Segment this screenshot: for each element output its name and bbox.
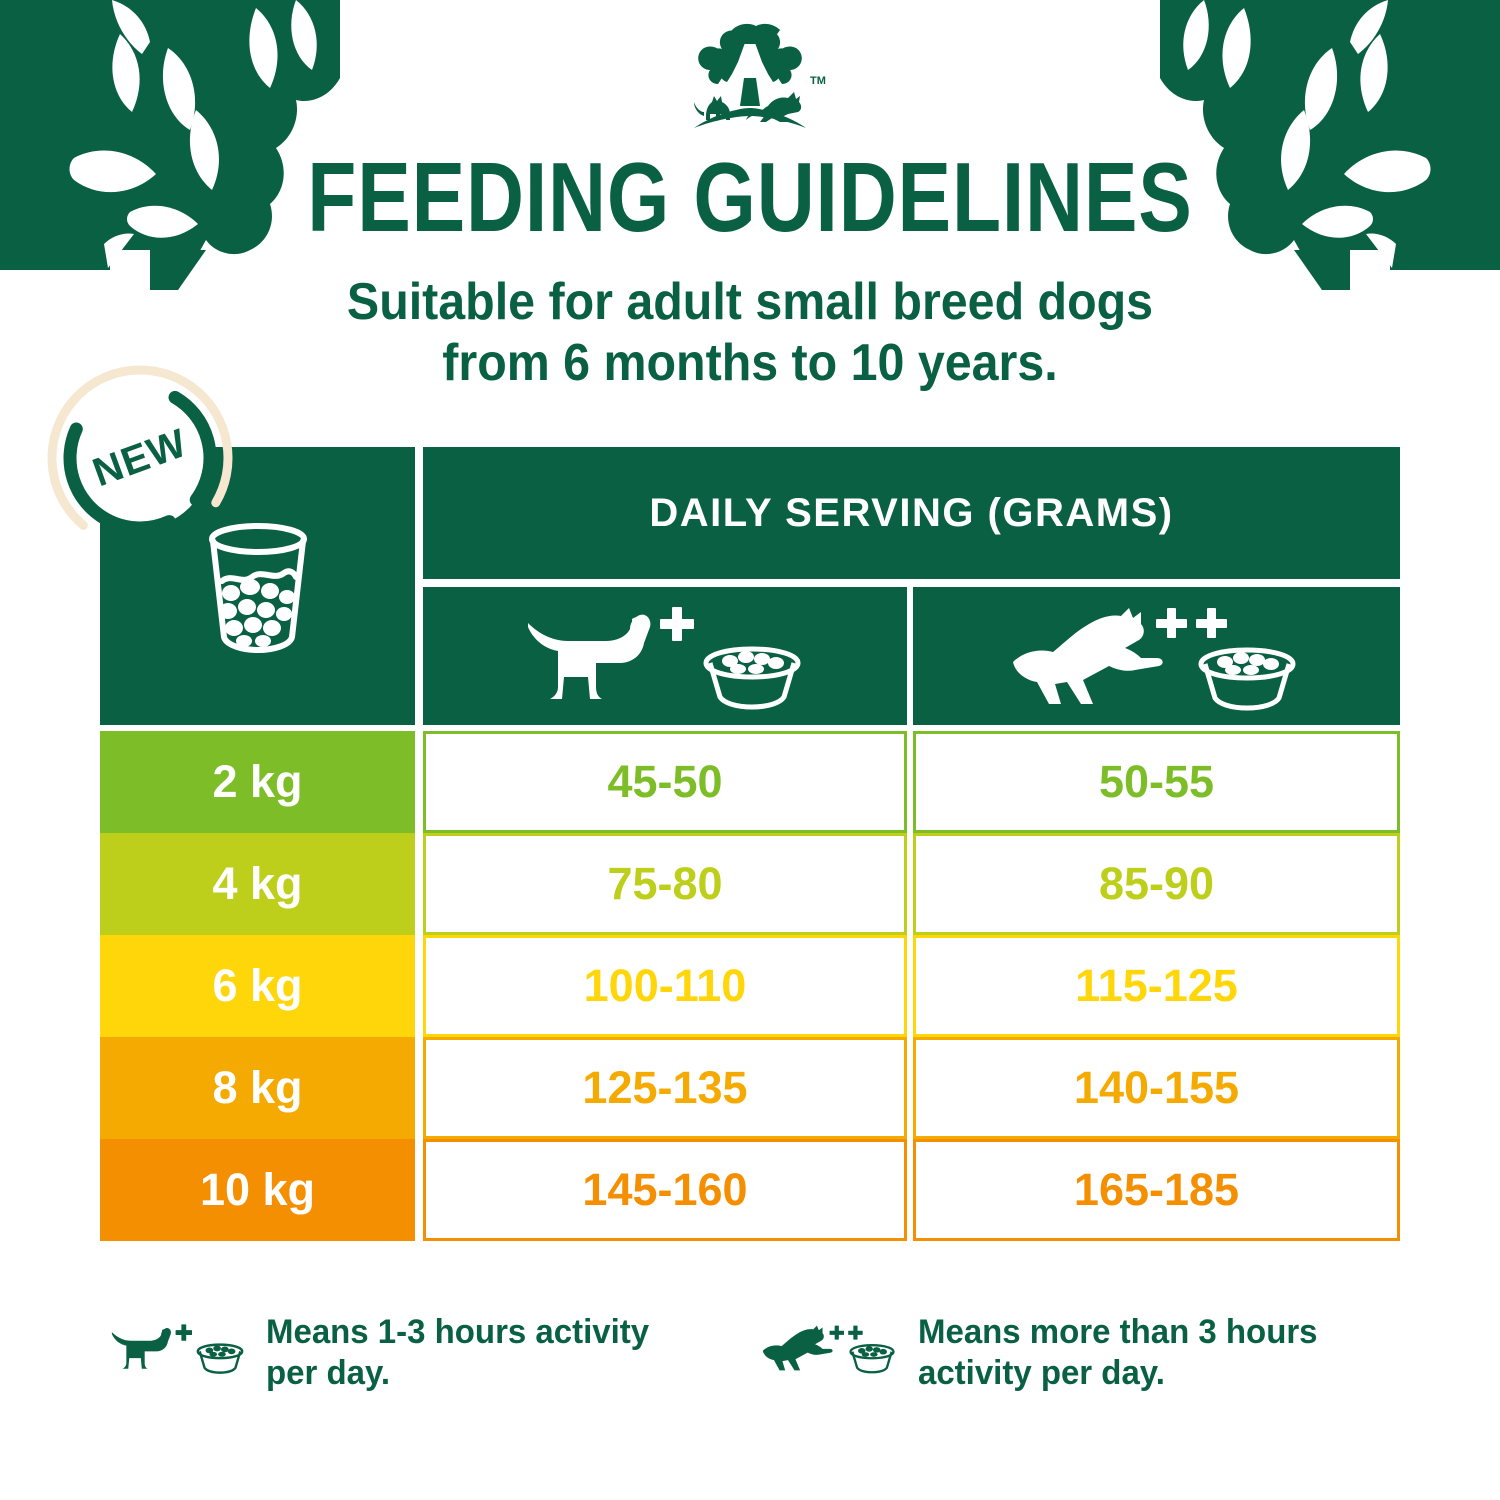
- weight-cell: 4 kg: [100, 833, 415, 935]
- feeding-table: DAILY SERVING (GRAMS): [100, 447, 1400, 1234]
- leaping-dog-with-bowl-icon: [1007, 600, 1307, 712]
- standing-dog-with-bowl-icon: [108, 1298, 248, 1398]
- standing-dog-with-bowl-icon: [520, 601, 810, 711]
- trademark-mark: TM: [810, 75, 826, 87]
- low-activity-cell: 45-50: [423, 731, 907, 833]
- legend-line-2: per day.: [266, 1353, 649, 1394]
- low-activity-cell: 125-135: [423, 1037, 907, 1139]
- leaf-decoration-right-icon: [1160, 0, 1500, 290]
- legend-line-1: Means more than 3 hours: [918, 1312, 1318, 1353]
- table-row: 6 kg 100-110 115-125: [100, 935, 1400, 1037]
- legend-text: Means 1-3 hours activity per day.: [266, 1312, 649, 1394]
- low-activity-cell: 145-160: [423, 1139, 907, 1241]
- activity-legend: Means 1-3 hours activity per day.: [100, 1298, 1420, 1438]
- table-row: 2 kg 45-50 50-55: [100, 731, 1400, 833]
- daily-serving-header: DAILY SERVING (GRAMS): [423, 447, 1400, 579]
- feeding-guidelines-infographic: TM FEEDING GUIDELINES Suitable for adult…: [0, 0, 1500, 1500]
- weight-cell: 6 kg: [100, 935, 415, 1037]
- low-activity-cell: 75-80: [423, 833, 907, 935]
- leaf-decoration-left-icon: [0, 0, 340, 290]
- weight-cell: 10 kg: [100, 1139, 415, 1241]
- high-activity-cell: 115-125: [913, 935, 1400, 1037]
- legend-text: Means more than 3 hours activity per day…: [918, 1312, 1318, 1394]
- low-activity-cell: 100-110: [423, 935, 907, 1037]
- legend-item-high-activity: Means more than 3 hours activity per day…: [760, 1298, 1330, 1398]
- weight-cell: 8 kg: [100, 1037, 415, 1139]
- table-row: 8 kg 125-135 140-155: [100, 1037, 1400, 1139]
- table-header-low-activity-cell: [423, 587, 907, 725]
- new-badge: NEW: [44, 362, 236, 554]
- high-activity-cell: 50-55: [913, 731, 1400, 833]
- high-activity-cell: 85-90: [913, 833, 1400, 935]
- table-row: 10 kg 145-160 165-185: [100, 1139, 1400, 1241]
- weight-cell: 2 kg: [100, 731, 415, 833]
- legend-item-low-activity: Means 1-3 hours activity per day.: [108, 1298, 661, 1398]
- page-subtitle: Suitable for adult small breed dogs from…: [53, 272, 1448, 394]
- leaping-dog-with-bowl-icon: [760, 1298, 900, 1398]
- tree-paw-logo: TM: [660, 22, 840, 142]
- legend-line-2: activity per day.: [918, 1353, 1318, 1394]
- subtitle-line-2: from 6 months to 10 years.: [53, 333, 1448, 394]
- page-title: FEEDING GUIDELINES: [135, 148, 1365, 246]
- table-header-high-activity-cell: [913, 587, 1400, 725]
- legend-line-1: Means 1-3 hours activity: [266, 1312, 649, 1353]
- table-row: 4 kg 75-80 85-90: [100, 833, 1400, 935]
- high-activity-cell: 140-155: [913, 1037, 1400, 1139]
- high-activity-cell: 165-185: [913, 1139, 1400, 1241]
- subtitle-line-1: Suitable for adult small breed dogs: [53, 272, 1448, 333]
